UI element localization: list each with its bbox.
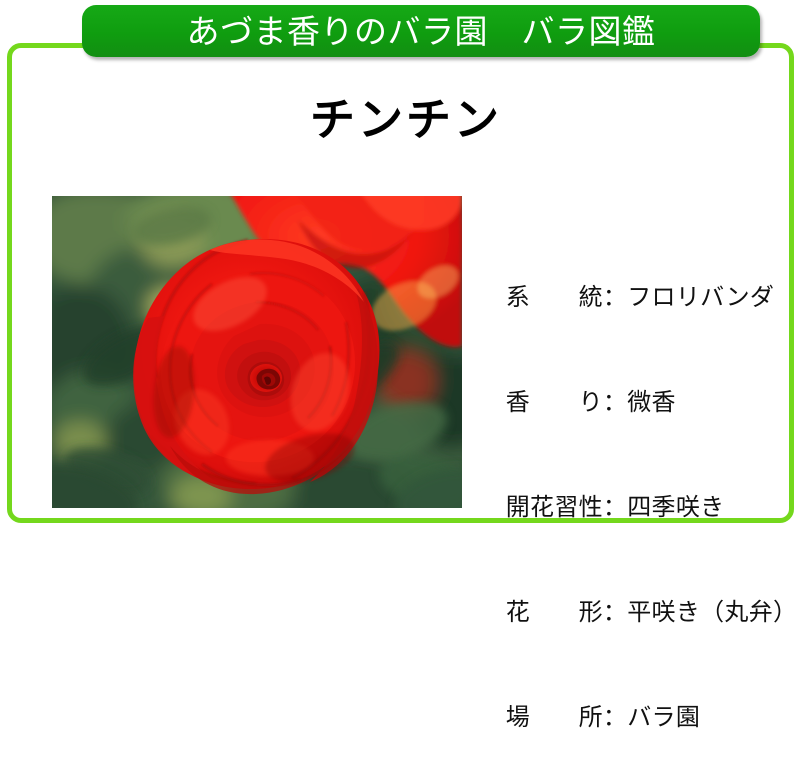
header-banner: あづま香りのバラ園 バラ図鑑 (82, 5, 760, 57)
spec-row: 場 所：バラ園 (474, 665, 794, 770)
spec-label: 花 形 (506, 598, 603, 626)
spec-row: 開花習性：四季咲き (474, 455, 794, 560)
spec-row: 香 り：微香 (474, 350, 794, 455)
spec-separator: ： (603, 388, 627, 416)
spec-separator: ： (603, 493, 627, 521)
spec-label: 系 統 (506, 283, 603, 311)
spec-label: 場 所 (506, 703, 603, 731)
rose-spec-list: 系 統：フロリバンダ 香 り：微香 開花習性：四季咲き 花 形：平咲き（丸弁） … (474, 245, 794, 770)
spec-separator: ： (603, 598, 627, 626)
spec-value: フロリバンダ (627, 283, 774, 311)
rose-photo (52, 196, 462, 508)
spec-label: 開花習性 (506, 493, 603, 521)
rose-name-title: チンチン (0, 94, 812, 146)
spec-value: バラ園 (627, 703, 700, 731)
spec-row: 花 形：平咲き（丸弁） (474, 560, 794, 665)
spec-separator: ： (603, 703, 627, 731)
rose-photo-image (52, 196, 462, 508)
spec-value: 四季咲き (627, 493, 724, 521)
spec-row: 系 統：フロリバンダ (474, 245, 794, 350)
spec-label: 香 り (506, 388, 603, 416)
spec-value: 平咲き（丸弁） (627, 598, 797, 626)
spec-value: 微香 (627, 388, 676, 416)
spec-separator: ： (603, 283, 627, 311)
header-title: あづま香りのバラ園 バラ図鑑 (187, 15, 656, 48)
